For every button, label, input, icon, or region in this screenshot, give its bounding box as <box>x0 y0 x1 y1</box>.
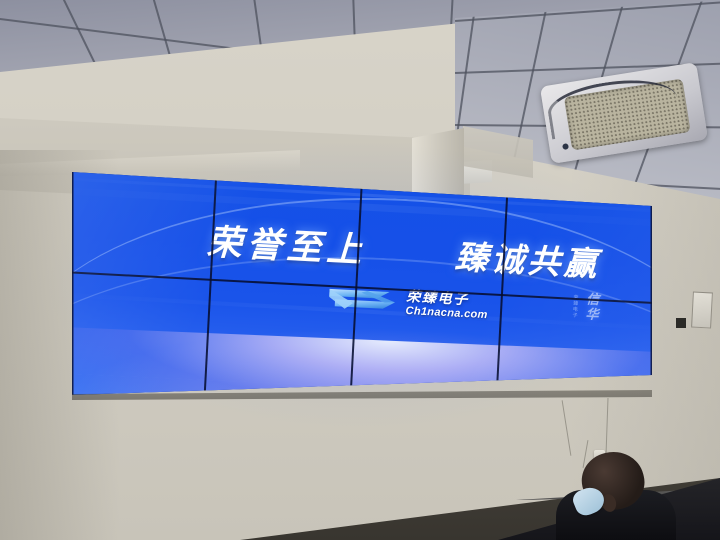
slide-signature: 荣臻电子 信华 <box>571 291 602 322</box>
wall-socket-icon <box>676 318 686 328</box>
slogan-phrase-2: 臻诚共赢 <box>454 230 602 286</box>
signature-name: 信华 <box>581 292 602 323</box>
slogan-phrase-1: 荣誉至上 <box>206 214 368 273</box>
person-seated <box>556 450 676 540</box>
wall-panel-frame <box>691 292 713 329</box>
brand-url: Ch1nacna.com <box>405 305 488 320</box>
photo-scene: 荣誉至上 臻诚共赢 <box>0 0 720 540</box>
